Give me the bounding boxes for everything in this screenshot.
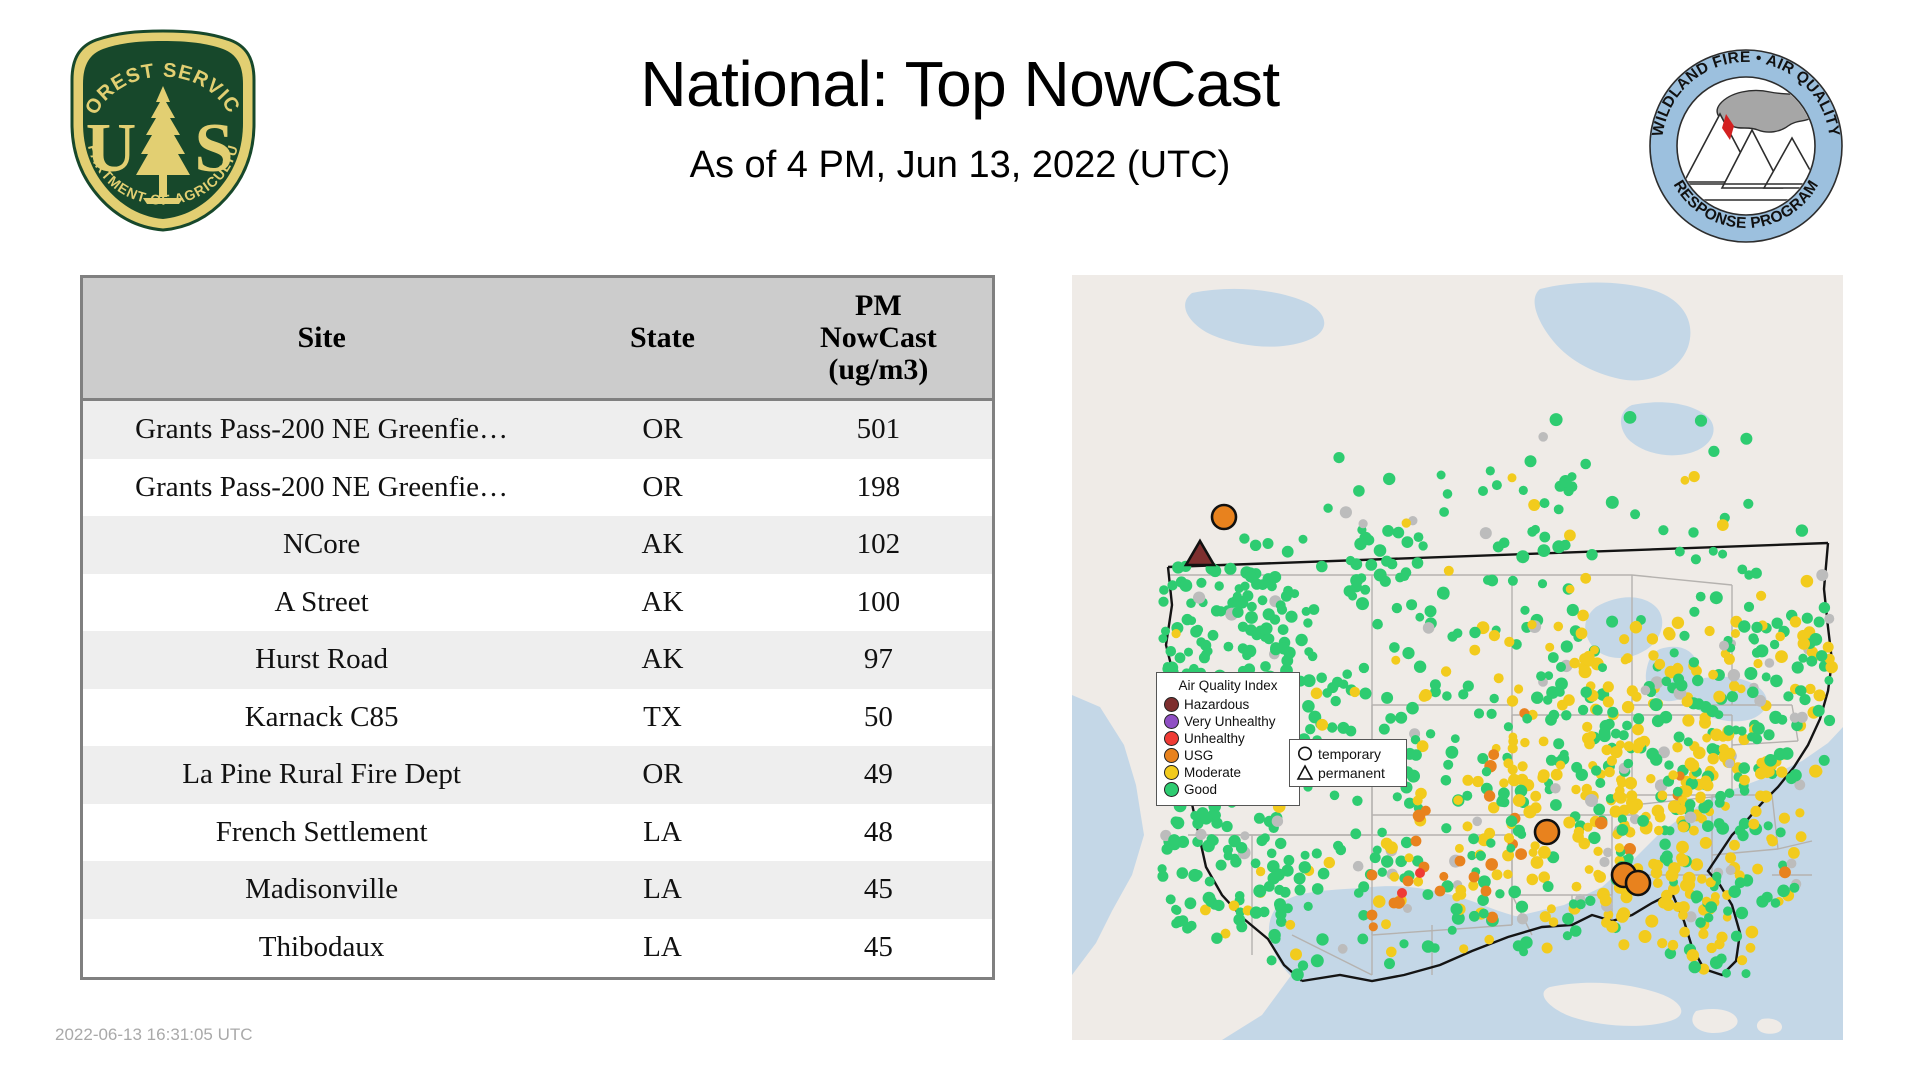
monitor-dot[interactable] bbox=[1585, 865, 1594, 874]
monitor-dot[interactable] bbox=[1393, 527, 1405, 539]
monitor-dot[interactable] bbox=[1751, 622, 1762, 633]
monitor-dot[interactable] bbox=[1245, 611, 1258, 624]
monitor-dot[interactable] bbox=[1681, 476, 1690, 485]
monitor-dot[interactable] bbox=[1713, 691, 1725, 703]
monitor-dot[interactable] bbox=[1769, 712, 1781, 724]
monitor-dot[interactable] bbox=[1354, 538, 1366, 550]
monitor-dot[interactable] bbox=[1525, 455, 1537, 467]
monitor-dot[interactable] bbox=[1731, 629, 1740, 638]
monitor-dot[interactable] bbox=[1631, 621, 1641, 631]
monitor-dot[interactable] bbox=[1240, 831, 1249, 840]
monitor-dot[interactable] bbox=[1619, 634, 1629, 644]
monitor-dot[interactable] bbox=[1747, 732, 1756, 741]
monitor-dot[interactable] bbox=[1527, 620, 1536, 629]
monitor-dot[interactable] bbox=[1508, 765, 1518, 775]
monitor-dot[interactable] bbox=[1240, 582, 1249, 591]
monitor-dot[interactable] bbox=[1765, 767, 1774, 776]
monitor-dot[interactable] bbox=[1699, 717, 1711, 729]
monitor-dot[interactable] bbox=[1385, 713, 1396, 724]
monitor-dot[interactable] bbox=[1299, 535, 1308, 544]
monitor-dot[interactable] bbox=[1365, 559, 1377, 571]
monitor-dot[interactable] bbox=[1392, 603, 1402, 613]
monitor-dot[interactable] bbox=[1742, 969, 1751, 978]
monitor-dot[interactable] bbox=[1538, 544, 1551, 557]
monitor-dot[interactable] bbox=[1399, 939, 1408, 948]
monitor-dot[interactable] bbox=[1180, 579, 1193, 592]
monitor-dot[interactable] bbox=[1692, 675, 1703, 686]
monitor-dot[interactable] bbox=[1639, 930, 1652, 943]
monitor-dot[interactable] bbox=[1499, 538, 1510, 549]
monitor-dot[interactable] bbox=[1224, 642, 1234, 652]
monitor-dot[interactable] bbox=[1668, 770, 1678, 780]
monitor-dot[interactable] bbox=[1672, 617, 1684, 629]
monitor-dot[interactable] bbox=[1753, 659, 1762, 668]
monitor-dot[interactable] bbox=[1441, 666, 1451, 676]
monitor-dot[interactable] bbox=[1650, 698, 1663, 711]
monitor-dot[interactable] bbox=[1702, 734, 1711, 743]
monitor-dot[interactable] bbox=[1443, 489, 1453, 499]
monitor-dot[interactable] bbox=[1708, 670, 1718, 680]
monitor-dot[interactable] bbox=[1383, 473, 1395, 485]
monitor-dot[interactable] bbox=[1374, 544, 1387, 557]
monitor-dot[interactable] bbox=[1216, 606, 1226, 616]
monitor-dot[interactable] bbox=[1700, 837, 1712, 849]
monitor-dot[interactable] bbox=[1678, 901, 1690, 913]
monitor-dot[interactable] bbox=[1381, 855, 1393, 867]
monitor-dot[interactable] bbox=[1594, 871, 1606, 883]
monitor-dot[interactable] bbox=[1771, 898, 1781, 908]
monitor-dot[interactable] bbox=[1264, 881, 1275, 892]
monitor-dot[interactable] bbox=[1256, 867, 1265, 876]
monitor-dot[interactable] bbox=[1338, 944, 1348, 954]
monitor-dot[interactable] bbox=[1691, 554, 1701, 564]
monitor-dot[interactable] bbox=[1455, 844, 1464, 853]
monitor-dot[interactable] bbox=[1654, 659, 1665, 670]
monitor-dot[interactable] bbox=[1272, 868, 1285, 881]
monitor-dot[interactable] bbox=[1275, 838, 1286, 849]
monitor-dot[interactable] bbox=[1543, 695, 1552, 704]
monitor-dot[interactable] bbox=[1673, 663, 1682, 672]
monitor-dot[interactable] bbox=[1472, 817, 1482, 827]
monitor-dot[interactable] bbox=[1725, 759, 1734, 768]
monitor-dot[interactable] bbox=[1486, 838, 1495, 847]
monitor-dot[interactable] bbox=[1443, 760, 1453, 770]
monitor-dot[interactable] bbox=[1695, 917, 1706, 928]
monitor-dot[interactable] bbox=[1251, 858, 1261, 868]
monitor-dot[interactable] bbox=[1495, 889, 1504, 898]
monitor-dot[interactable] bbox=[1684, 737, 1693, 746]
monitor-dot[interactable] bbox=[1190, 811, 1199, 820]
monitor-dot[interactable] bbox=[1411, 836, 1422, 847]
monitor-dot[interactable] bbox=[1373, 895, 1386, 908]
monitor-dot[interactable] bbox=[1401, 567, 1412, 578]
monitor-dot[interactable] bbox=[1481, 886, 1492, 897]
monitor-dot[interactable] bbox=[1213, 900, 1224, 911]
monitor-dot[interactable] bbox=[1270, 614, 1280, 624]
monitor-dot[interactable] bbox=[1702, 820, 1714, 832]
monitor-dot[interactable] bbox=[1767, 836, 1778, 847]
monitor-dot[interactable] bbox=[1444, 566, 1454, 576]
monitor-dot[interactable] bbox=[1401, 837, 1412, 848]
column-header-pm-nowcast[interactable]: PM NowCast (ug/m3) bbox=[765, 278, 992, 400]
monitor-dot[interactable] bbox=[1624, 759, 1634, 769]
monitor-dot[interactable] bbox=[1553, 738, 1564, 749]
monitor-dot[interactable] bbox=[1746, 943, 1756, 953]
monitor-dot[interactable] bbox=[1316, 719, 1328, 731]
monitor-dot[interactable] bbox=[1582, 722, 1592, 732]
monitor-dot[interactable] bbox=[1679, 927, 1690, 938]
monitor-dot[interactable] bbox=[1352, 796, 1362, 806]
monitor-dot[interactable] bbox=[1560, 750, 1569, 759]
monitor-dot[interactable] bbox=[1592, 705, 1603, 716]
monitor-dot[interactable] bbox=[1302, 607, 1311, 616]
monitor-dot[interactable] bbox=[1595, 817, 1608, 830]
monitor-dot[interactable] bbox=[1645, 915, 1658, 928]
monitor-dot[interactable] bbox=[1760, 791, 1772, 803]
monitor-dot[interactable] bbox=[1796, 831, 1807, 842]
monitor-dot[interactable] bbox=[1737, 726, 1746, 735]
monitor-dot[interactable] bbox=[1290, 589, 1299, 598]
monitor-dot[interactable] bbox=[1242, 651, 1252, 661]
monitor-dot[interactable] bbox=[1435, 886, 1446, 897]
monitor-dot[interactable] bbox=[1469, 911, 1480, 922]
monitor-dot[interactable] bbox=[1598, 663, 1607, 672]
monitor-dot[interactable] bbox=[1799, 694, 1810, 705]
monitor-dot[interactable] bbox=[1316, 673, 1327, 684]
monitor-dot[interactable] bbox=[1548, 652, 1559, 663]
monitor-dot[interactable] bbox=[1451, 903, 1463, 915]
monitor-dot[interactable] bbox=[1291, 968, 1304, 981]
monitor-dot[interactable] bbox=[1224, 563, 1236, 575]
monitor-dot[interactable] bbox=[1385, 841, 1398, 854]
monitor-dot[interactable] bbox=[1323, 504, 1332, 513]
monitor-dot[interactable] bbox=[1641, 686, 1651, 696]
monitor-dot[interactable] bbox=[1203, 892, 1216, 905]
monitor-dot[interactable] bbox=[1503, 870, 1512, 879]
monitor-dot[interactable] bbox=[1311, 954, 1324, 967]
monitor-dot[interactable] bbox=[1740, 433, 1752, 445]
monitor-dot[interactable] bbox=[1775, 650, 1788, 663]
monitor-dot[interactable] bbox=[1484, 828, 1495, 839]
monitor-dot[interactable] bbox=[1441, 823, 1451, 833]
monitor-dot[interactable] bbox=[1571, 762, 1582, 773]
monitor-dot[interactable] bbox=[1647, 633, 1658, 644]
monitor-dot[interactable] bbox=[1282, 546, 1294, 558]
monitor-dot[interactable] bbox=[1795, 808, 1804, 817]
monitor-dot[interactable] bbox=[1235, 891, 1245, 901]
monitor-dot[interactable] bbox=[1819, 755, 1830, 766]
monitor-dot[interactable] bbox=[1755, 644, 1768, 657]
monitor-dot[interactable] bbox=[1303, 674, 1316, 687]
monitor-dot[interactable] bbox=[1559, 475, 1572, 488]
air-quality-map-panel[interactable]: Air Quality Index HazardousVery Unhealth… bbox=[1072, 275, 1843, 1040]
monitor-dot[interactable] bbox=[1744, 667, 1757, 680]
table-row[interactable]: Hurst RoadAK97 bbox=[83, 631, 992, 689]
monitor-dot[interactable] bbox=[1554, 622, 1564, 632]
monitor-dot[interactable] bbox=[1413, 810, 1426, 823]
monitor-dot[interactable] bbox=[1551, 769, 1563, 781]
monitor-dot[interactable] bbox=[1228, 835, 1240, 847]
monitor-dot[interactable] bbox=[1689, 826, 1699, 836]
monitor-dot[interactable] bbox=[1600, 895, 1612, 907]
monitor-dot[interactable] bbox=[1658, 525, 1668, 535]
monitor-dot[interactable] bbox=[1449, 749, 1458, 758]
monitor-dot[interactable] bbox=[1569, 658, 1580, 669]
monitor-dot[interactable] bbox=[1743, 499, 1753, 509]
monitor-dot[interactable] bbox=[1632, 724, 1644, 736]
table-row[interactable]: Grants Pass-200 NE Greenfie…OR501 bbox=[83, 400, 992, 459]
monitor-dot[interactable] bbox=[1658, 791, 1668, 801]
monitor-dot[interactable] bbox=[1538, 769, 1550, 781]
monitor-dot[interactable] bbox=[1425, 605, 1437, 617]
monitor-dot[interactable] bbox=[1756, 895, 1768, 907]
monitor-dot[interactable] bbox=[1415, 613, 1424, 622]
monitor-dot[interactable] bbox=[1632, 692, 1642, 702]
monitor-dot[interactable] bbox=[1802, 613, 1813, 624]
monitor-dot[interactable] bbox=[1391, 656, 1400, 665]
monitor-dot[interactable] bbox=[1389, 898, 1400, 909]
monitor-dot[interactable] bbox=[1556, 761, 1565, 770]
monitor-dot[interactable] bbox=[1777, 885, 1790, 898]
monitor-dot[interactable] bbox=[1729, 681, 1740, 692]
monitor-dot[interactable] bbox=[1739, 775, 1750, 786]
monitor-dot[interactable] bbox=[1513, 794, 1526, 807]
table-row[interactable]: A StreetAK100 bbox=[83, 574, 992, 632]
monitor-dot[interactable] bbox=[1772, 618, 1783, 629]
monitor-dot[interactable] bbox=[1727, 691, 1738, 702]
monitor-dot[interactable] bbox=[1353, 485, 1365, 497]
monitor-dot[interactable] bbox=[1469, 645, 1480, 656]
monitor-dot[interactable] bbox=[1765, 658, 1775, 668]
monitor-dot[interactable] bbox=[1590, 646, 1599, 655]
monitor-dot[interactable] bbox=[1488, 749, 1499, 760]
monitor-dot[interactable] bbox=[1572, 831, 1584, 843]
monitor-dot[interactable] bbox=[1469, 627, 1480, 638]
monitor-dot[interactable] bbox=[1538, 846, 1551, 859]
monitor-dot[interactable] bbox=[1593, 847, 1602, 856]
monitor-dot[interactable] bbox=[1381, 692, 1393, 704]
monitor-dot[interactable] bbox=[1615, 843, 1624, 852]
monitor-dot[interactable] bbox=[1687, 949, 1700, 962]
monitor-dot[interactable] bbox=[1543, 881, 1554, 892]
monitor-dot[interactable] bbox=[1205, 877, 1215, 887]
monitor-dot[interactable] bbox=[1301, 851, 1310, 860]
monitor-dot[interactable] bbox=[1402, 647, 1414, 659]
monitor-dot[interactable] bbox=[1498, 788, 1510, 800]
monitor-dot[interactable] bbox=[1712, 872, 1721, 881]
table-row[interactable]: Grants Pass-200 NE Greenfie…OR198 bbox=[83, 459, 992, 517]
monitor-dot[interactable] bbox=[1531, 525, 1540, 534]
monitor-dot[interactable] bbox=[1569, 899, 1578, 908]
monitor-dot[interactable] bbox=[1518, 761, 1528, 771]
monitor-dot[interactable] bbox=[1770, 675, 1783, 688]
monitor-dot[interactable] bbox=[1805, 684, 1815, 694]
monitor-dot[interactable] bbox=[1209, 565, 1221, 577]
monitor-dot[interactable] bbox=[1468, 833, 1479, 844]
monitor-dot[interactable] bbox=[1469, 872, 1480, 883]
monitor-dot[interactable] bbox=[1516, 901, 1528, 913]
monitor-dot[interactable] bbox=[1566, 585, 1575, 594]
monitor-dot[interactable] bbox=[1339, 680, 1348, 689]
monitor-dot[interactable] bbox=[1718, 550, 1727, 559]
monitor-dot[interactable] bbox=[1530, 791, 1541, 802]
monitor-dot[interactable] bbox=[1748, 819, 1759, 830]
monitor-dot[interactable] bbox=[1622, 701, 1634, 713]
monitor-dot[interactable] bbox=[1196, 578, 1206, 588]
monitor-dot[interactable] bbox=[1304, 902, 1313, 911]
monitor-dot[interactable] bbox=[1423, 889, 1434, 900]
monitor-dot[interactable] bbox=[1781, 747, 1794, 760]
monitor-dot[interactable] bbox=[1585, 794, 1598, 807]
monitor-dot[interactable] bbox=[1410, 749, 1422, 761]
monitor-dot[interactable] bbox=[1504, 722, 1513, 731]
monitor-dot[interactable] bbox=[1591, 765, 1601, 775]
monitor-dot[interactable] bbox=[1188, 869, 1201, 882]
monitor-dot[interactable] bbox=[1716, 822, 1729, 835]
monitor-dot[interactable] bbox=[1439, 589, 1450, 600]
monitor-dot[interactable] bbox=[1359, 519, 1368, 528]
monitor-dot[interactable] bbox=[1798, 654, 1807, 663]
monitor-dot[interactable] bbox=[1610, 746, 1622, 758]
monitor-dot[interactable] bbox=[1695, 415, 1707, 427]
monitor-dot[interactable] bbox=[1453, 628, 1463, 638]
monitor-dot[interactable] bbox=[1402, 518, 1411, 527]
monitor-dot[interactable] bbox=[1729, 840, 1740, 851]
monitor-dot[interactable] bbox=[1158, 864, 1167, 873]
monitor-dot[interactable] bbox=[1619, 730, 1629, 740]
monitor-dot[interactable] bbox=[1787, 859, 1797, 869]
monitor-dot[interactable] bbox=[1539, 737, 1549, 747]
monitor-dot[interactable] bbox=[1755, 768, 1767, 780]
monitor-dot[interactable] bbox=[1519, 947, 1528, 956]
monitor-dot[interactable] bbox=[1770, 640, 1779, 649]
monitor-dot[interactable] bbox=[1746, 926, 1759, 939]
monitor-dot[interactable] bbox=[1604, 767, 1615, 778]
monitor-dot[interactable] bbox=[1522, 714, 1532, 724]
monitor-dot[interactable] bbox=[1382, 525, 1394, 537]
monitor-dot[interactable] bbox=[1762, 672, 1771, 681]
monitor-dot[interactable] bbox=[1738, 762, 1750, 774]
monitor-dot[interactable] bbox=[1654, 826, 1663, 835]
monitor-dot[interactable] bbox=[1224, 851, 1233, 860]
monitor-dot[interactable] bbox=[1801, 575, 1814, 588]
monitor-dot[interactable] bbox=[1504, 637, 1514, 647]
monitor-dot[interactable] bbox=[1476, 851, 1486, 861]
monitor-dot[interactable] bbox=[1779, 813, 1790, 824]
monitor-dot[interactable] bbox=[1232, 607, 1243, 618]
monitor-dot[interactable] bbox=[1413, 796, 1423, 806]
monitor-dot[interactable] bbox=[1508, 743, 1518, 753]
monitor-dot[interactable] bbox=[1538, 579, 1547, 588]
monitor-dot[interactable] bbox=[1277, 605, 1287, 615]
monitor-dot[interactable] bbox=[1663, 627, 1675, 639]
monitor-dot[interactable] bbox=[1664, 760, 1673, 769]
monitor-dot[interactable] bbox=[1360, 688, 1372, 700]
monitor-dot[interactable] bbox=[1509, 733, 1518, 742]
monitor-dot[interactable] bbox=[1648, 650, 1658, 660]
monitor-dot[interactable] bbox=[1295, 634, 1307, 646]
monitor-dot[interactable] bbox=[1670, 648, 1679, 657]
monitor-dot[interactable] bbox=[1744, 602, 1754, 612]
monitor-dot[interactable] bbox=[1523, 805, 1536, 818]
monitor-dot[interactable] bbox=[1276, 916, 1287, 927]
monitor-dot[interactable] bbox=[1708, 753, 1719, 764]
monitor-dot[interactable] bbox=[1763, 729, 1774, 740]
monitor-dot[interactable] bbox=[1393, 792, 1402, 801]
monitor-dot[interactable] bbox=[1514, 684, 1523, 693]
monitor-dot[interactable] bbox=[1633, 713, 1644, 724]
monitor-dot[interactable] bbox=[1702, 780, 1714, 792]
monitor-dot[interactable] bbox=[1359, 663, 1369, 673]
monitor-dot[interactable] bbox=[1715, 791, 1726, 802]
monitor-dot[interactable] bbox=[1268, 929, 1280, 941]
monitor-dot[interactable] bbox=[1588, 832, 1600, 844]
monitor-dot[interactable] bbox=[1528, 499, 1540, 511]
monitor-dot[interactable] bbox=[1386, 947, 1397, 958]
monitor-dot[interactable] bbox=[1506, 815, 1518, 827]
monitor-dot[interactable] bbox=[1166, 646, 1177, 657]
monitor-dot[interactable] bbox=[1776, 827, 1786, 837]
monitor-dot[interactable] bbox=[1685, 799, 1696, 810]
monitor-dot[interactable] bbox=[1710, 591, 1723, 604]
monitor-dot[interactable] bbox=[1357, 934, 1368, 945]
monitor-dot[interactable] bbox=[1682, 714, 1694, 726]
monitor-dot[interactable] bbox=[1578, 705, 1588, 715]
monitor-dot[interactable] bbox=[1731, 931, 1742, 942]
monitor-dot[interactable] bbox=[1311, 688, 1323, 700]
monitor-dot[interactable] bbox=[1549, 710, 1560, 721]
monitor-dot[interactable] bbox=[1722, 969, 1731, 978]
monitor-dot[interactable] bbox=[1413, 877, 1423, 887]
monitor-dot[interactable] bbox=[1377, 828, 1387, 838]
monitor-dot[interactable] bbox=[1418, 541, 1427, 550]
monitor-dot[interactable] bbox=[1390, 872, 1400, 882]
monitor-dot[interactable] bbox=[1626, 790, 1637, 801]
monitor-dot[interactable] bbox=[1531, 841, 1540, 850]
monitor-dot[interactable] bbox=[1322, 688, 1332, 698]
monitor-dot[interactable] bbox=[1719, 641, 1729, 651]
monitor-dot[interactable] bbox=[1550, 413, 1563, 426]
monitor-dot[interactable] bbox=[1673, 674, 1684, 685]
monitor-dot[interactable] bbox=[1556, 688, 1565, 697]
monitor-dot[interactable] bbox=[1250, 540, 1261, 551]
monitor-dot[interactable] bbox=[1270, 644, 1281, 655]
monitor-dot[interactable] bbox=[1453, 795, 1463, 805]
monitor-dot[interactable] bbox=[1267, 849, 1277, 859]
monitor-dot[interactable] bbox=[1508, 576, 1518, 586]
monitor-dot[interactable] bbox=[1747, 687, 1759, 699]
monitor-dot[interactable] bbox=[1378, 868, 1387, 877]
monitor-dot[interactable] bbox=[1814, 689, 1826, 701]
monitor-dot[interactable] bbox=[1550, 799, 1562, 811]
monitor-dot[interactable] bbox=[1790, 616, 1801, 627]
monitor-dot[interactable] bbox=[1290, 948, 1302, 960]
monitor-dot[interactable] bbox=[1689, 471, 1700, 482]
monitor-dot[interactable] bbox=[1726, 865, 1736, 875]
monitor-dot[interactable] bbox=[1200, 640, 1211, 651]
monitor-dot[interactable] bbox=[1621, 656, 1630, 665]
monitor-dot[interactable] bbox=[1489, 630, 1500, 641]
monitor-dot[interactable] bbox=[1813, 705, 1825, 717]
monitor-dot[interactable] bbox=[1484, 935, 1494, 945]
monitor-dot[interactable] bbox=[1462, 791, 1472, 801]
monitor-dot[interactable] bbox=[1752, 864, 1763, 875]
monitor-dot[interactable] bbox=[1283, 903, 1293, 913]
monitor-dot[interactable] bbox=[1666, 869, 1679, 882]
monitor-dot[interactable] bbox=[1506, 844, 1515, 853]
monitor-dot[interactable] bbox=[1442, 691, 1452, 701]
monitor-dot[interactable] bbox=[1710, 729, 1723, 742]
